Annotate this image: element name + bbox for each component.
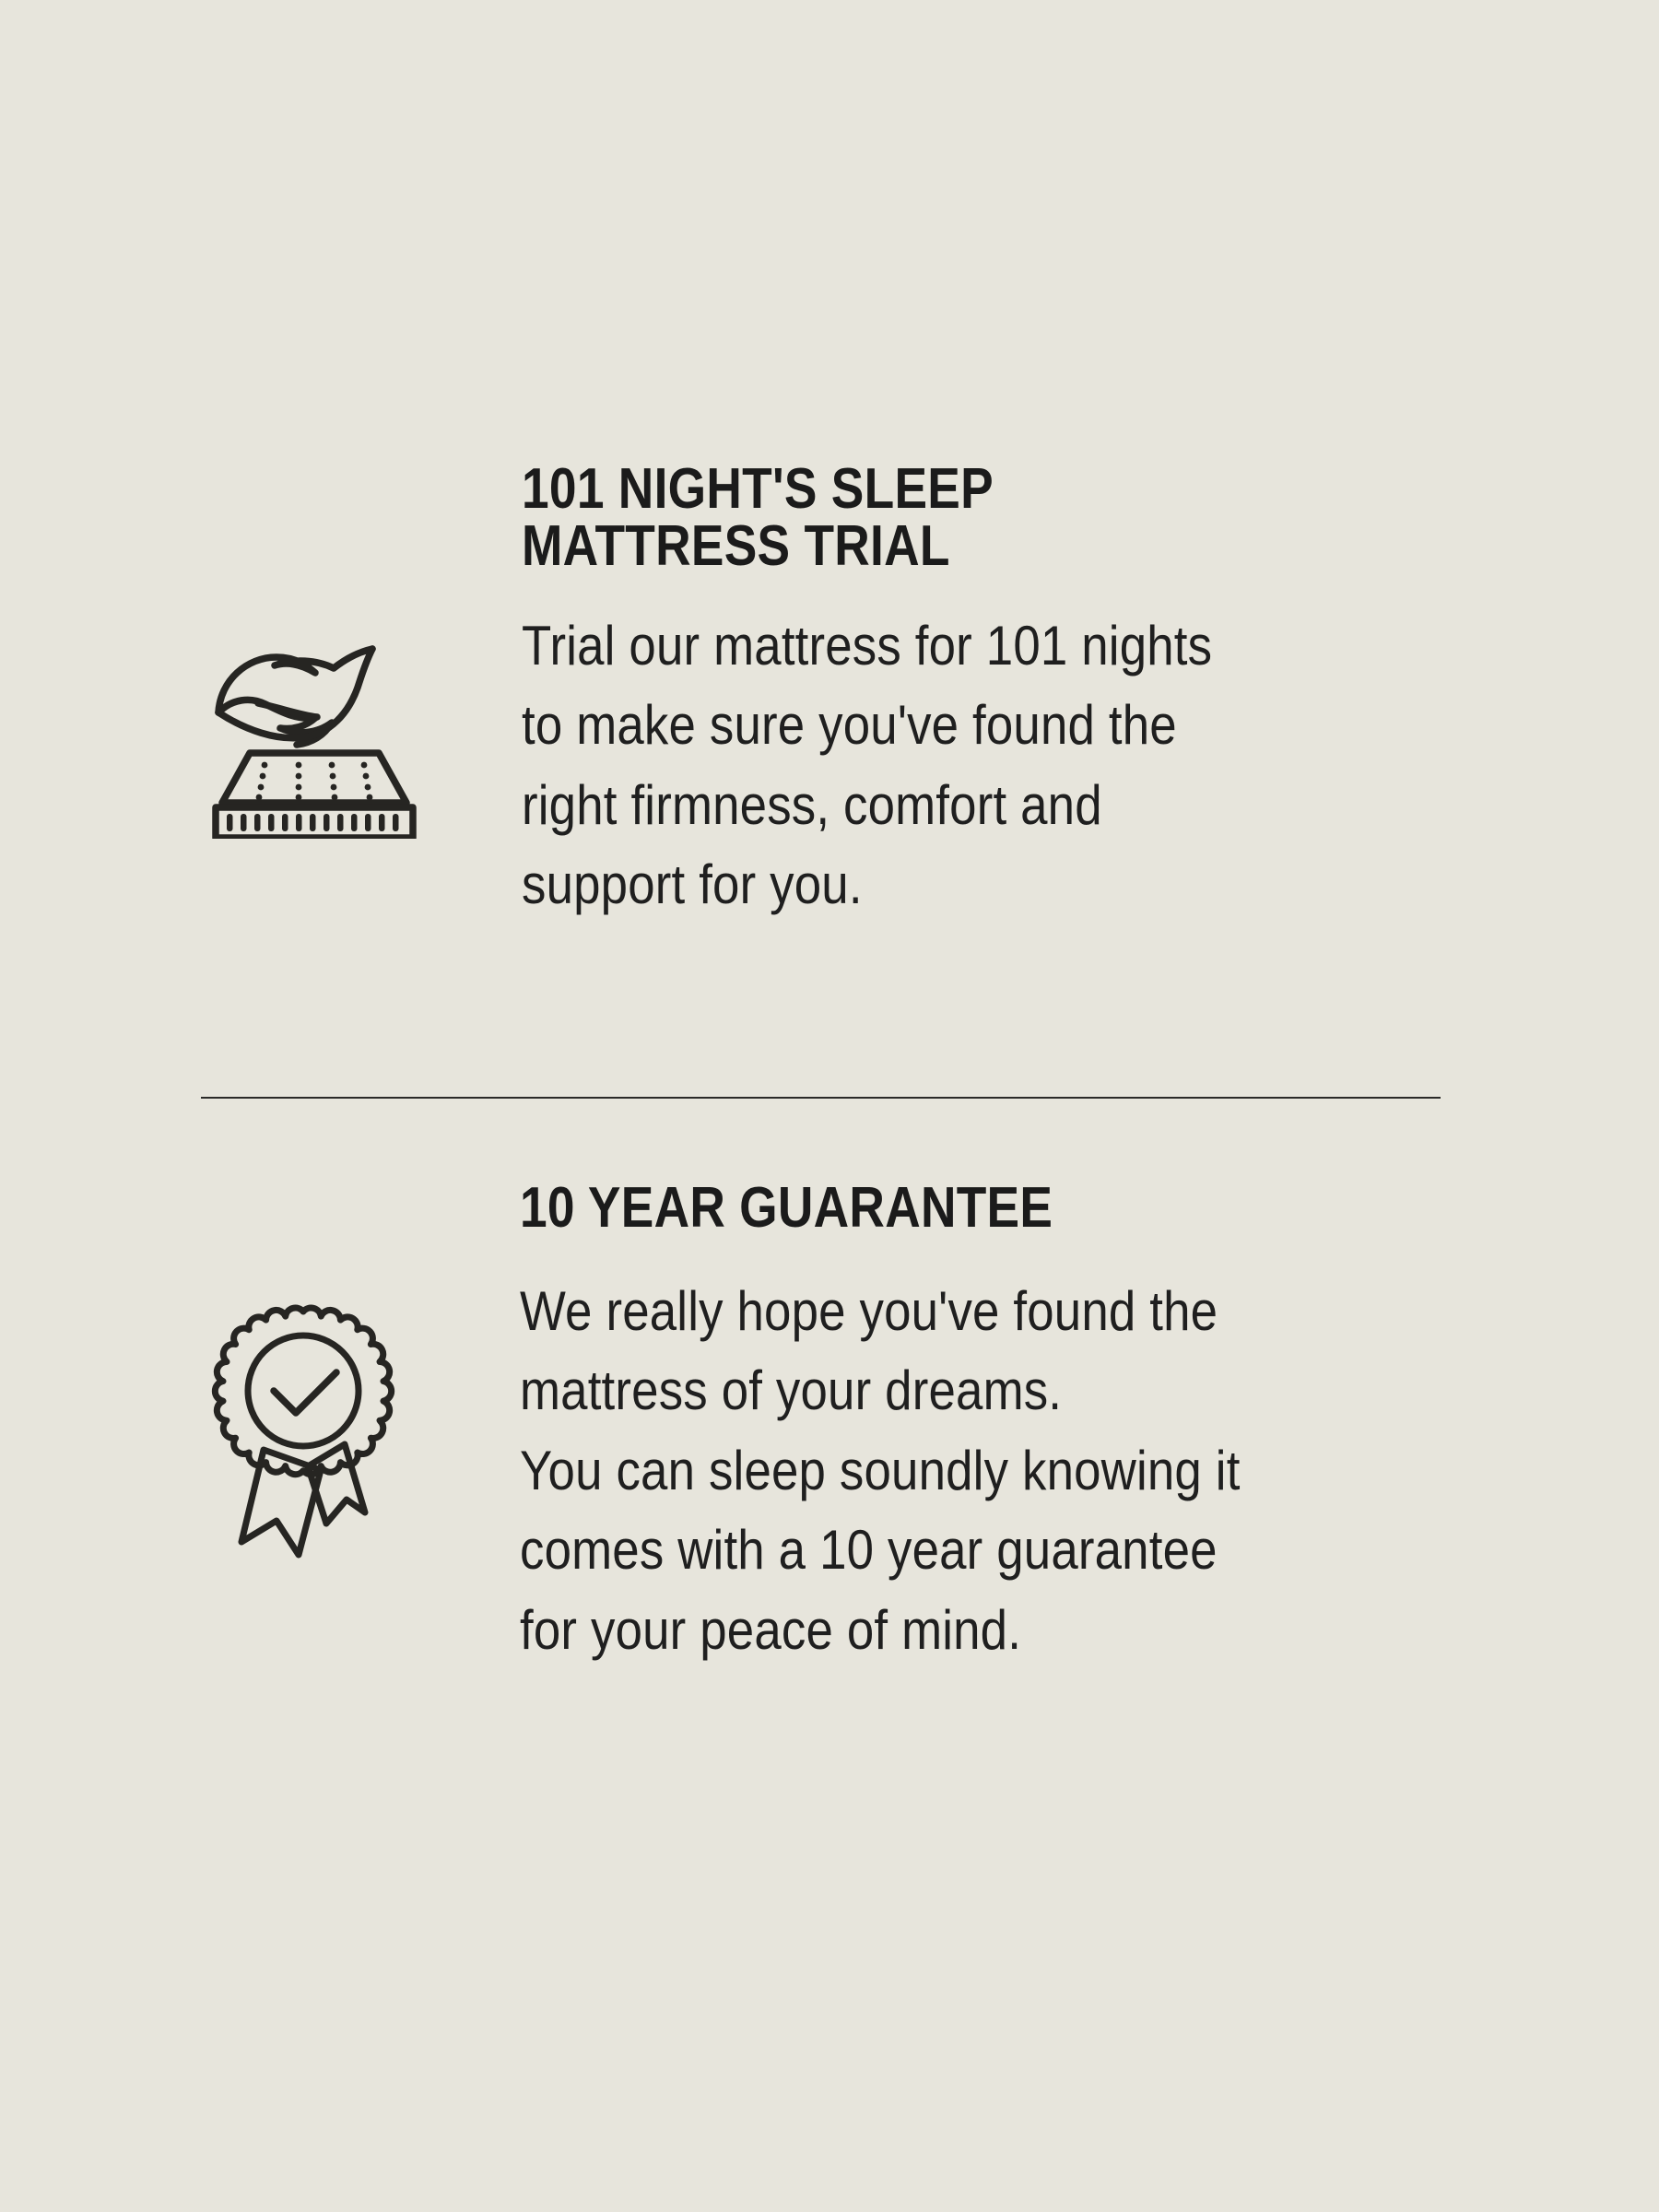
feature-block-mattress-trial: 101 NIGHT'S SLEEP MATTRESS TRIAL Trial o… [201, 461, 1445, 925]
feature-body-guarantee: We really hope you've found the mattress… [520, 1272, 1335, 1670]
feature-block-guarantee: 10 YEAR GUARANTEE We really hope you've … [201, 1180, 1445, 1670]
rosette-inner-circle [248, 1335, 359, 1446]
check-icon [274, 1372, 336, 1413]
feature-icon-cell [201, 461, 522, 839]
feature-body-mattress-trial: Trial our mattress for 101 nights to mak… [522, 606, 1335, 925]
feature-highlights-page: 101 NIGHT'S SLEEP MATTRESS TRIAL Trial o… [0, 0, 1659, 2212]
feature-text-cell: 10 YEAR GUARANTEE We really hope you've … [520, 1180, 1445, 1670]
feature-text-cell: 101 NIGHT'S SLEEP MATTRESS TRIAL Trial o… [522, 461, 1445, 925]
feather-on-mattress-icon [208, 627, 420, 839]
feature-icon-cell [201, 1180, 520, 1562]
section-divider [201, 1097, 1441, 1099]
guarantee-rosette-icon [206, 1295, 400, 1562]
feature-heading-guarantee: 10 YEAR GUARANTEE [520, 1180, 1315, 1237]
mattress-base-slats [227, 814, 399, 831]
feature-heading-mattress-trial: 101 NIGHT'S SLEEP MATTRESS TRIAL [522, 461, 1316, 575]
mattress-tufting-dots [256, 762, 373, 801]
